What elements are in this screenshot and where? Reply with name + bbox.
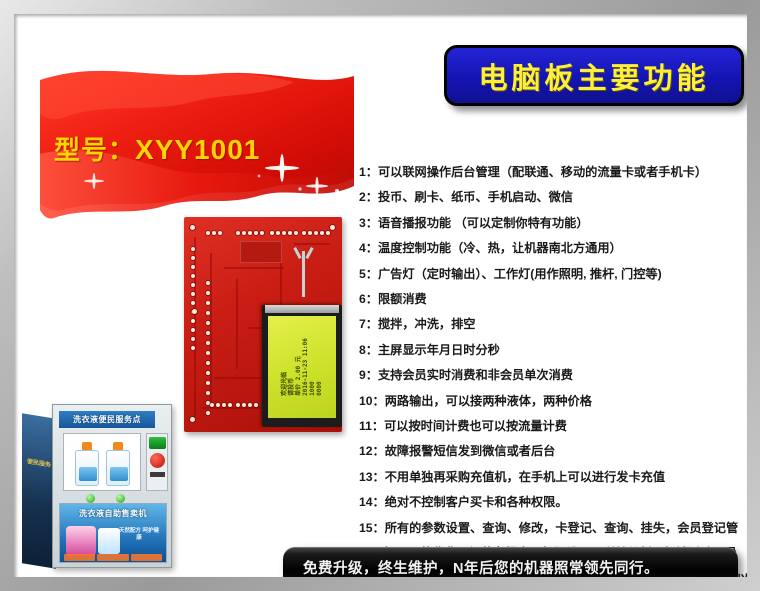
control-board: 欢迎光临 请投币 单价 2.00 元 2016-11-23 11:06 1000… <box>184 217 342 432</box>
coin-slot-icon[interactable] <box>150 472 165 477</box>
green-display-icon <box>149 437 166 449</box>
feature-item: 12：故障报警短信发到微信或者后台 <box>359 439 747 464</box>
machine-side-text: 便民服务 <box>27 458 51 470</box>
lcd-text: 欢迎光临 请投币 单价 2.00 元 2016-11-23 11:06 1000… <box>281 338 323 396</box>
lcd-display: 欢迎光临 请投币 单价 2.00 元 2016-11-23 11:06 1000… <box>262 305 342 427</box>
feature-item: 5：广告灯（定时输出）、工作灯(用作照明, 推杆, 门控等) <box>359 262 747 287</box>
product-window <box>63 433 141 491</box>
vending-machine-photo: 便民服务 洗衣液便民服务点 <box>22 402 178 574</box>
bottle-label <box>110 467 128 481</box>
machine-side-panel: 便民服务 <box>22 413 56 568</box>
feature-item: 3：语音播报功能 （可以定制你特有功能） <box>359 211 747 236</box>
indicator-light-icon <box>116 494 125 503</box>
indicator-light-icon <box>86 494 95 503</box>
footer-text: 免费升级，终生维护，N年后您的机器照常领先同行。 <box>283 557 659 578</box>
page-title: 电脑板主要功能 <box>478 55 709 97</box>
footer-banner: 免费升级，终生维护，N年后您的机器照常领先同行。 <box>283 547 738 577</box>
poster-bottle-icon <box>98 528 120 554</box>
machine-body: 洗衣液便民服务点 <box>52 404 172 568</box>
feature-item: 11：可以按时间计费也可以按流量计费 <box>359 414 747 439</box>
feature-item: 13：不用单独再采购充值机，在手机上可以进行发卡充值 <box>359 465 747 490</box>
bottle-body <box>75 450 99 486</box>
poster-strip <box>64 554 162 561</box>
feature-item: 10：两路输出，可以接两种液体，两种价格 <box>359 389 747 414</box>
slide-page: 型号：XYY1001 电脑板主要功能 1：可以联网操作后台管理（配联通、移动的流… <box>14 14 747 577</box>
feature-item: 14：绝对不控制客户买卡和各种权限。 <box>359 490 747 515</box>
lcd-bezel <box>265 305 339 313</box>
model-label: 型号：XYY1001 <box>54 130 260 167</box>
bottle-body <box>106 450 130 486</box>
slide-root: 型号：XYY1001 电脑板主要功能 1：可以联网操作后台管理（配联通、移动的流… <box>0 0 760 591</box>
feature-item: 4：温度控制功能（冷、热，让机器南北方通用） <box>359 236 747 261</box>
feature-list: 1：可以联网操作后台管理（配联通、移动的流量卡或者手机卡） 2：投币、刷卡、纸币… <box>359 160 747 577</box>
detergent-bottle <box>106 442 130 486</box>
feature-item: 2：投币、刷卡、纸币、手机启动、微信 <box>359 185 747 210</box>
indicator-lights <box>75 493 135 503</box>
feature-item: 9：支持会员实时消费和非会员单次消费 <box>359 363 747 388</box>
machine-control-panel[interactable] <box>146 433 168 491</box>
red-flag-graphic: 型号：XYY1001 <box>32 58 362 233</box>
model-label-prefix: 型号： <box>54 135 135 165</box>
feature-item: 1：可以联网操作后台管理（配联通、移动的流量卡或者手机卡） <box>359 160 747 185</box>
poster-bottle-icon <box>66 526 96 556</box>
red-button-icon[interactable] <box>150 453 165 468</box>
machine-poster-title: 洗衣液自助售卖机 <box>60 508 166 519</box>
lcd-glass: 欢迎光临 请投币 单价 2.00 元 2016-11-23 11:06 1000… <box>268 316 336 418</box>
machine-top-sign: 洗衣液便民服务点 <box>59 411 155 428</box>
feature-item: 6：限额消费 <box>359 287 747 312</box>
title-box: 电脑板主要功能 <box>444 45 744 106</box>
machine-poster-sub: 天然配方 呵护健康 <box>118 528 160 542</box>
bottle-label <box>79 467 97 481</box>
pcb-photo: 欢迎光临 请投币 单价 2.00 元 2016-11-23 11:06 1000… <box>184 217 342 432</box>
feature-item: 7：搅拌，冲洗，排空 <box>359 312 747 337</box>
model-number: XYY1001 <box>135 134 260 165</box>
machine-poster: 洗衣液自助售卖机 天然配方 呵护健康 <box>59 503 167 563</box>
detergent-bottle <box>75 442 99 486</box>
feature-item: 8：主屏显示年月日时分秒 <box>359 338 747 363</box>
